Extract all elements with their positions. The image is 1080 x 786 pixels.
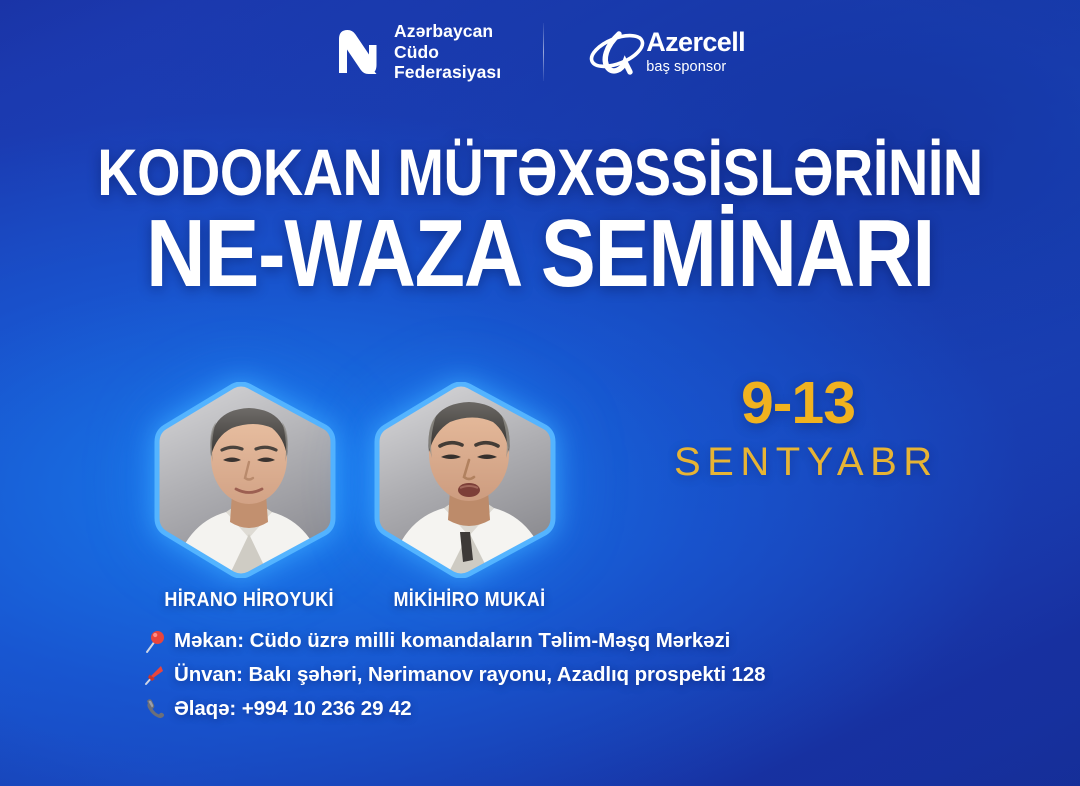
speakers-row: HİRANO HİROYUKİ (150, 382, 568, 612)
detail-phone: Əlaqə: +994 10 236 29 42 (143, 696, 765, 722)
federation-logo: Azərbaycan Cüdo Federasiyası (335, 21, 501, 82)
azercell-role: baş sponsor (646, 60, 745, 75)
federation-name: Azərbaycan Cüdo Federasiyası (394, 21, 501, 82)
pushpin-icon (143, 662, 165, 688)
portrait-hirano-hiroyuki (154, 382, 344, 578)
speaker-name: HİRANO HİROYUKİ (164, 589, 333, 612)
detail-venue: Məkan: Cüdo üzrə milli komandaların Təli… (143, 628, 765, 654)
portrait-mikihiro-mukai (374, 382, 564, 578)
telephone-receiver-icon (143, 696, 165, 722)
title-line-1: KODOKAN MÜTƏXƏSSİSLƏRİNİN (84, 140, 997, 204)
poster-canvas: Azərbaycan Cüdo Federasiyası Azercell ba… (0, 0, 1080, 786)
speaker-card: MİKİHİRO MUKAİ (370, 382, 568, 612)
azercell-wordmark: Azercell baş sponsor (646, 29, 745, 75)
detail-phone-text: Əlaqə: +994 10 236 29 42 (174, 697, 412, 721)
speaker-card: HİRANO HİROYUKİ (150, 382, 348, 612)
event-date: 9-13 SENTYABR (668, 374, 928, 482)
page-title: KODOKAN MÜTƏXƏSSİSLƏRİNİN NE-WAZA SEMİNA… (0, 140, 1080, 300)
detail-venue-text: Məkan: Cüdo üzrə milli komandaların Təli… (174, 629, 730, 653)
judo-federation-knot-icon (335, 27, 381, 77)
date-range: 9-13 (668, 374, 928, 433)
event-details: Məkan: Cüdo üzrə milli komandaların Təli… (143, 628, 765, 722)
round-pushpin-icon (143, 628, 165, 654)
federation-line-3: Federasiyası (394, 62, 501, 82)
header-logos: Azərbaycan Cüdo Federasiyası Azercell ba… (0, 14, 1080, 90)
azercell-name: Azercell (646, 29, 745, 56)
federation-line-1: Azərbaycan (394, 21, 501, 41)
title-line-2: NE-WAZA SEMİNARI (76, 208, 1005, 300)
speaker-name: MİKİHİRO MUKAİ (393, 589, 545, 612)
federation-line-2: Cüdo (394, 42, 501, 62)
date-month: SENTYABR (674, 442, 928, 482)
detail-address-text: Ünvan: Bakı şəhəri, Nərimanov rayonu, Az… (174, 663, 765, 687)
detail-address: Ünvan: Bakı şəhəri, Nərimanov rayonu, Az… (143, 662, 765, 688)
azercell-alpha-swoosh-icon (586, 26, 644, 78)
header-divider (543, 23, 544, 81)
azercell-sponsor-logo: Azercell baş sponsor (586, 26, 745, 78)
